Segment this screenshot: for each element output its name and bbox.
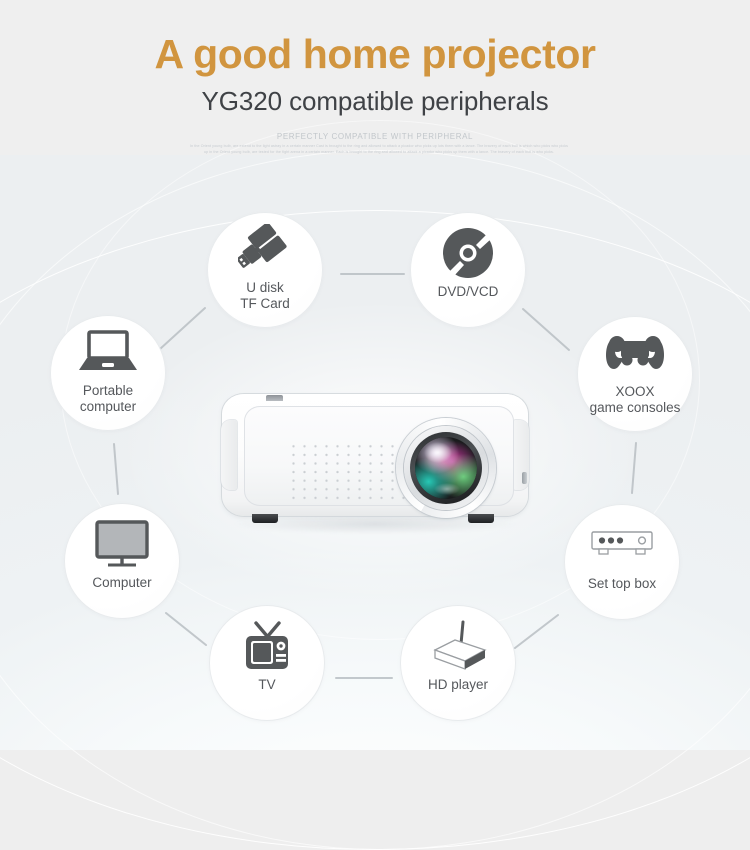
node-label: HD player — [428, 677, 488, 693]
node-hdplayer[interactable]: HD player — [400, 605, 516, 721]
projector-foot — [468, 514, 494, 523]
node-label: Portable computer — [80, 383, 136, 414]
set-top-box-icon — [564, 517, 680, 573]
projector-side-cap-left — [221, 420, 237, 490]
node-portablecomputer[interactable]: Portable computer — [50, 315, 166, 431]
connector-dvd-xoox — [523, 309, 569, 350]
connector-xoox-stb — [632, 443, 636, 493]
projector-top-control — [266, 395, 283, 401]
optical-disc-icon — [410, 225, 526, 281]
node-settopbox[interactable]: Set top box — [564, 504, 680, 620]
projector-product-image — [218, 388, 532, 536]
lens-glass — [415, 437, 477, 499]
connector-tv-computer — [166, 613, 206, 645]
usb-flash-drive-icon — [207, 221, 323, 277]
product-infographic: A good home projector YG320 compatible p… — [0, 0, 750, 750]
projector-front-panel — [244, 406, 514, 506]
node-label: U disk TF Card — [240, 280, 290, 311]
node-tv[interactable]: TV — [209, 605, 325, 721]
connector-computer-portable — [114, 444, 118, 494]
retro-tv-icon — [209, 618, 325, 674]
projector-foot — [252, 514, 278, 523]
gamepad-icon — [577, 325, 693, 381]
node-dvd[interactable]: DVD/VCD — [410, 212, 526, 328]
node-label: Computer — [92, 575, 151, 591]
hd-player-box-icon — [400, 618, 516, 674]
node-udisk[interactable]: U disk TF Card — [207, 212, 323, 328]
connector-stb-hdp — [515, 615, 558, 648]
laptop-icon — [50, 324, 166, 380]
node-label: Set top box — [588, 576, 656, 592]
projector-lens — [396, 418, 496, 518]
node-computer[interactable]: Computer — [64, 503, 180, 619]
node-label: TV — [258, 677, 275, 693]
desktop-monitor-icon — [64, 516, 180, 572]
node-label: XOOX game consoles — [590, 384, 681, 415]
projector-body — [222, 394, 528, 516]
node-gameconsole[interactable]: XOOX game consoles — [577, 316, 693, 432]
node-label: DVD/VCD — [438, 284, 499, 300]
projector-side-port — [522, 472, 527, 484]
connector-portable-udisk — [160, 308, 205, 349]
